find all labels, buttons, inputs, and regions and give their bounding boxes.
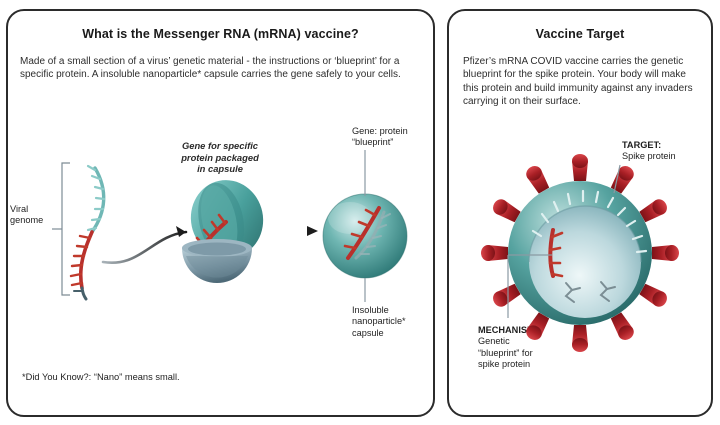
- open-capsule-graphic: [182, 173, 270, 283]
- infographic-artwork: [0, 0, 720, 425]
- viral-genome-graphic: [52, 163, 104, 299]
- sealed-capsule-graphic: [323, 150, 407, 302]
- virus-particle-graphic: [481, 154, 679, 352]
- arrow-right-icon: [262, 226, 318, 236]
- curved-arrow-icon: [103, 226, 186, 263]
